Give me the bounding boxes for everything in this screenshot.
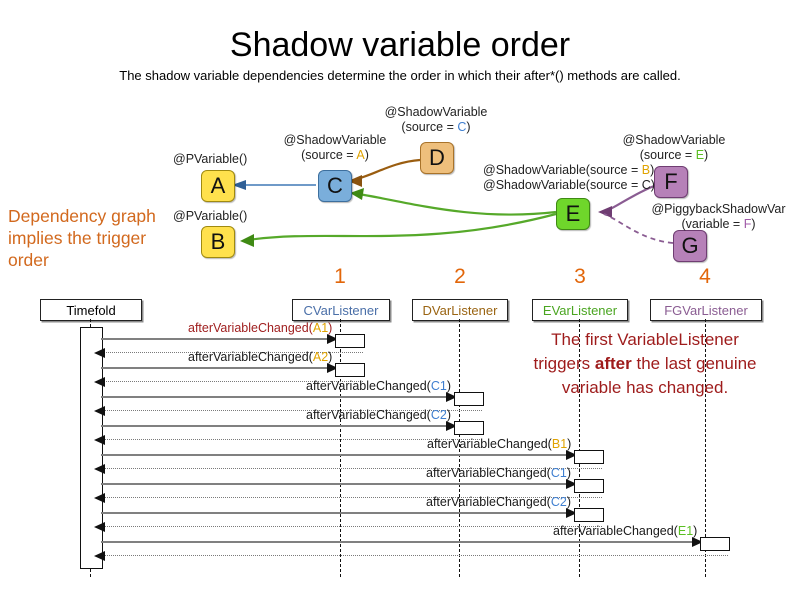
dependency-order-note: Dependency graph implies the trigger ord… bbox=[8, 205, 168, 271]
annotation-f: @ShadowVariable (source = E) bbox=[596, 133, 752, 163]
message-method-name: afterVariableChanged( bbox=[188, 350, 313, 364]
message-call-line bbox=[101, 454, 567, 456]
message-paren-close: ) bbox=[328, 350, 332, 364]
message-label: afterVariableChanged(E1) bbox=[553, 524, 697, 538]
lifeline-header-timefold[interactable]: Timefold bbox=[40, 299, 142, 321]
callout-line2: triggers after the last genuine bbox=[495, 352, 795, 376]
annotation-f-source-var: E bbox=[696, 148, 704, 162]
message-call-line bbox=[101, 338, 328, 340]
message-method-name: afterVariableChanged( bbox=[188, 321, 313, 335]
message-label: afterVariableChanged(B1) bbox=[427, 437, 571, 451]
annotation-f-line2: (source = E) bbox=[596, 148, 752, 163]
annotation-c-source-var: A bbox=[356, 148, 364, 162]
page-subtitle: The shadow variable dependencies determi… bbox=[0, 68, 800, 83]
annotation-g-line2: (variable = F) bbox=[637, 217, 800, 232]
message-return-arrowhead bbox=[94, 522, 105, 532]
graph-node-g[interactable]: G bbox=[673, 230, 707, 262]
message-param: A2 bbox=[313, 350, 328, 364]
lifeline-header-evarlistener[interactable]: EVarListener bbox=[532, 299, 628, 321]
annotation-c-line1: @ShadowVariable bbox=[257, 133, 413, 148]
graph-node-b[interactable]: B bbox=[201, 226, 235, 258]
message-return-arrowhead bbox=[94, 406, 105, 416]
graph-node-a[interactable]: A bbox=[201, 170, 235, 202]
message-param: A1 bbox=[313, 321, 328, 335]
message-label: afterVariableChanged(A1) bbox=[188, 321, 332, 335]
message-call-line bbox=[101, 541, 693, 543]
message-method-name: afterVariableChanged( bbox=[426, 466, 551, 480]
callout-line1: The first VariableListener bbox=[495, 328, 795, 352]
message-return-arrowhead bbox=[94, 348, 105, 358]
message-return-arrowhead bbox=[94, 435, 105, 445]
annotation-e-line2: @ShadowVariable(source = C) bbox=[483, 178, 655, 193]
annotation-e-source-var: B bbox=[642, 163, 650, 177]
callout-line3: variable has changed. bbox=[495, 376, 795, 400]
message-return-arrowhead bbox=[94, 377, 105, 387]
message-label: afterVariableChanged(A2) bbox=[188, 350, 332, 364]
message-return-line bbox=[104, 526, 602, 527]
page-title: Shadow variable order bbox=[0, 28, 800, 62]
message-paren-close: ) bbox=[567, 437, 571, 451]
message-param: C1 bbox=[431, 379, 447, 393]
lifeline-header-fgvarlistener[interactable]: FGVarListener bbox=[650, 299, 762, 321]
activation-box bbox=[574, 508, 604, 522]
lifeline-header-dvarlistener[interactable]: DVarListener bbox=[412, 299, 508, 321]
callout-note: The first VariableListener triggers afte… bbox=[495, 328, 795, 400]
message-param: C1 bbox=[551, 466, 567, 480]
annotation-e: @ShadowVariable(source = B) @ShadowVaria… bbox=[483, 163, 655, 193]
annotation-f-line1: @ShadowVariable bbox=[596, 133, 752, 148]
order-number-1: 1 bbox=[310, 265, 370, 289]
message-method-name: afterVariableChanged( bbox=[427, 437, 552, 451]
message-paren-close: ) bbox=[328, 321, 332, 335]
message-return-arrowhead bbox=[94, 493, 105, 503]
message-call-line bbox=[101, 425, 447, 427]
activation-box bbox=[454, 392, 484, 406]
activation-timefold bbox=[80, 327, 103, 569]
annotation-b: @PVariable() bbox=[173, 209, 247, 224]
activation-box bbox=[335, 334, 365, 348]
message-return-arrowhead bbox=[94, 464, 105, 474]
message-param: C2 bbox=[551, 495, 567, 509]
message-return-arrowhead bbox=[94, 551, 105, 561]
annotation-c: @ShadowVariable (source = A) bbox=[257, 133, 413, 163]
message-call-line bbox=[101, 396, 447, 398]
annotation-d-line1: @ShadowVariable bbox=[358, 105, 514, 120]
message-paren-close: ) bbox=[567, 466, 571, 480]
order-number-2: 2 bbox=[430, 265, 490, 289]
message-param: B1 bbox=[552, 437, 567, 451]
message-return-line bbox=[104, 555, 728, 556]
graph-node-c[interactable]: C bbox=[318, 170, 352, 202]
activation-box bbox=[574, 479, 604, 493]
message-paren-close: ) bbox=[447, 408, 451, 422]
annotation-g-line1: @PiggybackShadowVar bbox=[637, 202, 800, 217]
annotation-d-line2: (source = C) bbox=[358, 120, 514, 135]
message-label: afterVariableChanged(C2) bbox=[426, 495, 571, 509]
graph-node-f[interactable]: F bbox=[654, 166, 688, 198]
annotation-g: @PiggybackShadowVar (variable = F) bbox=[637, 202, 800, 232]
message-param: C2 bbox=[431, 408, 447, 422]
activation-box bbox=[454, 421, 484, 435]
activation-box bbox=[574, 450, 604, 464]
activation-box bbox=[700, 537, 730, 551]
message-paren-close: ) bbox=[567, 495, 571, 509]
diagram-canvas: Shadow variable order The shadow variabl… bbox=[0, 0, 800, 600]
order-number-3: 3 bbox=[550, 265, 610, 289]
message-call-line bbox=[101, 483, 567, 485]
message-label: afterVariableChanged(C1) bbox=[426, 466, 571, 480]
message-param: E1 bbox=[678, 524, 693, 538]
message-call-line bbox=[101, 512, 567, 514]
message-method-name: afterVariableChanged( bbox=[553, 524, 678, 538]
message-label: afterVariableChanged(C2) bbox=[306, 408, 451, 422]
message-method-name: afterVariableChanged( bbox=[426, 495, 551, 509]
message-call-line bbox=[101, 367, 328, 369]
message-method-name: afterVariableChanged( bbox=[306, 379, 431, 393]
message-method-name: afterVariableChanged( bbox=[306, 408, 431, 422]
message-paren-close: ) bbox=[693, 524, 697, 538]
message-label: afterVariableChanged(C1) bbox=[306, 379, 451, 393]
annotation-c-line2: (source = A) bbox=[257, 148, 413, 163]
message-return-line bbox=[104, 439, 482, 440]
annotation-d: @ShadowVariable (source = C) bbox=[358, 105, 514, 135]
message-paren-close: ) bbox=[447, 379, 451, 393]
graph-node-e[interactable]: E bbox=[556, 198, 590, 230]
activation-box bbox=[335, 363, 365, 377]
order-number-4: 4 bbox=[675, 265, 735, 289]
lifeline-cvarlistener bbox=[340, 319, 341, 577]
lifeline-header-cvarlistener[interactable]: CVarListener bbox=[292, 299, 390, 321]
annotation-a: @PVariable() bbox=[173, 152, 247, 167]
graph-node-d[interactable]: D bbox=[420, 142, 454, 174]
annotation-e-line1: @ShadowVariable(source = B) bbox=[483, 163, 655, 178]
